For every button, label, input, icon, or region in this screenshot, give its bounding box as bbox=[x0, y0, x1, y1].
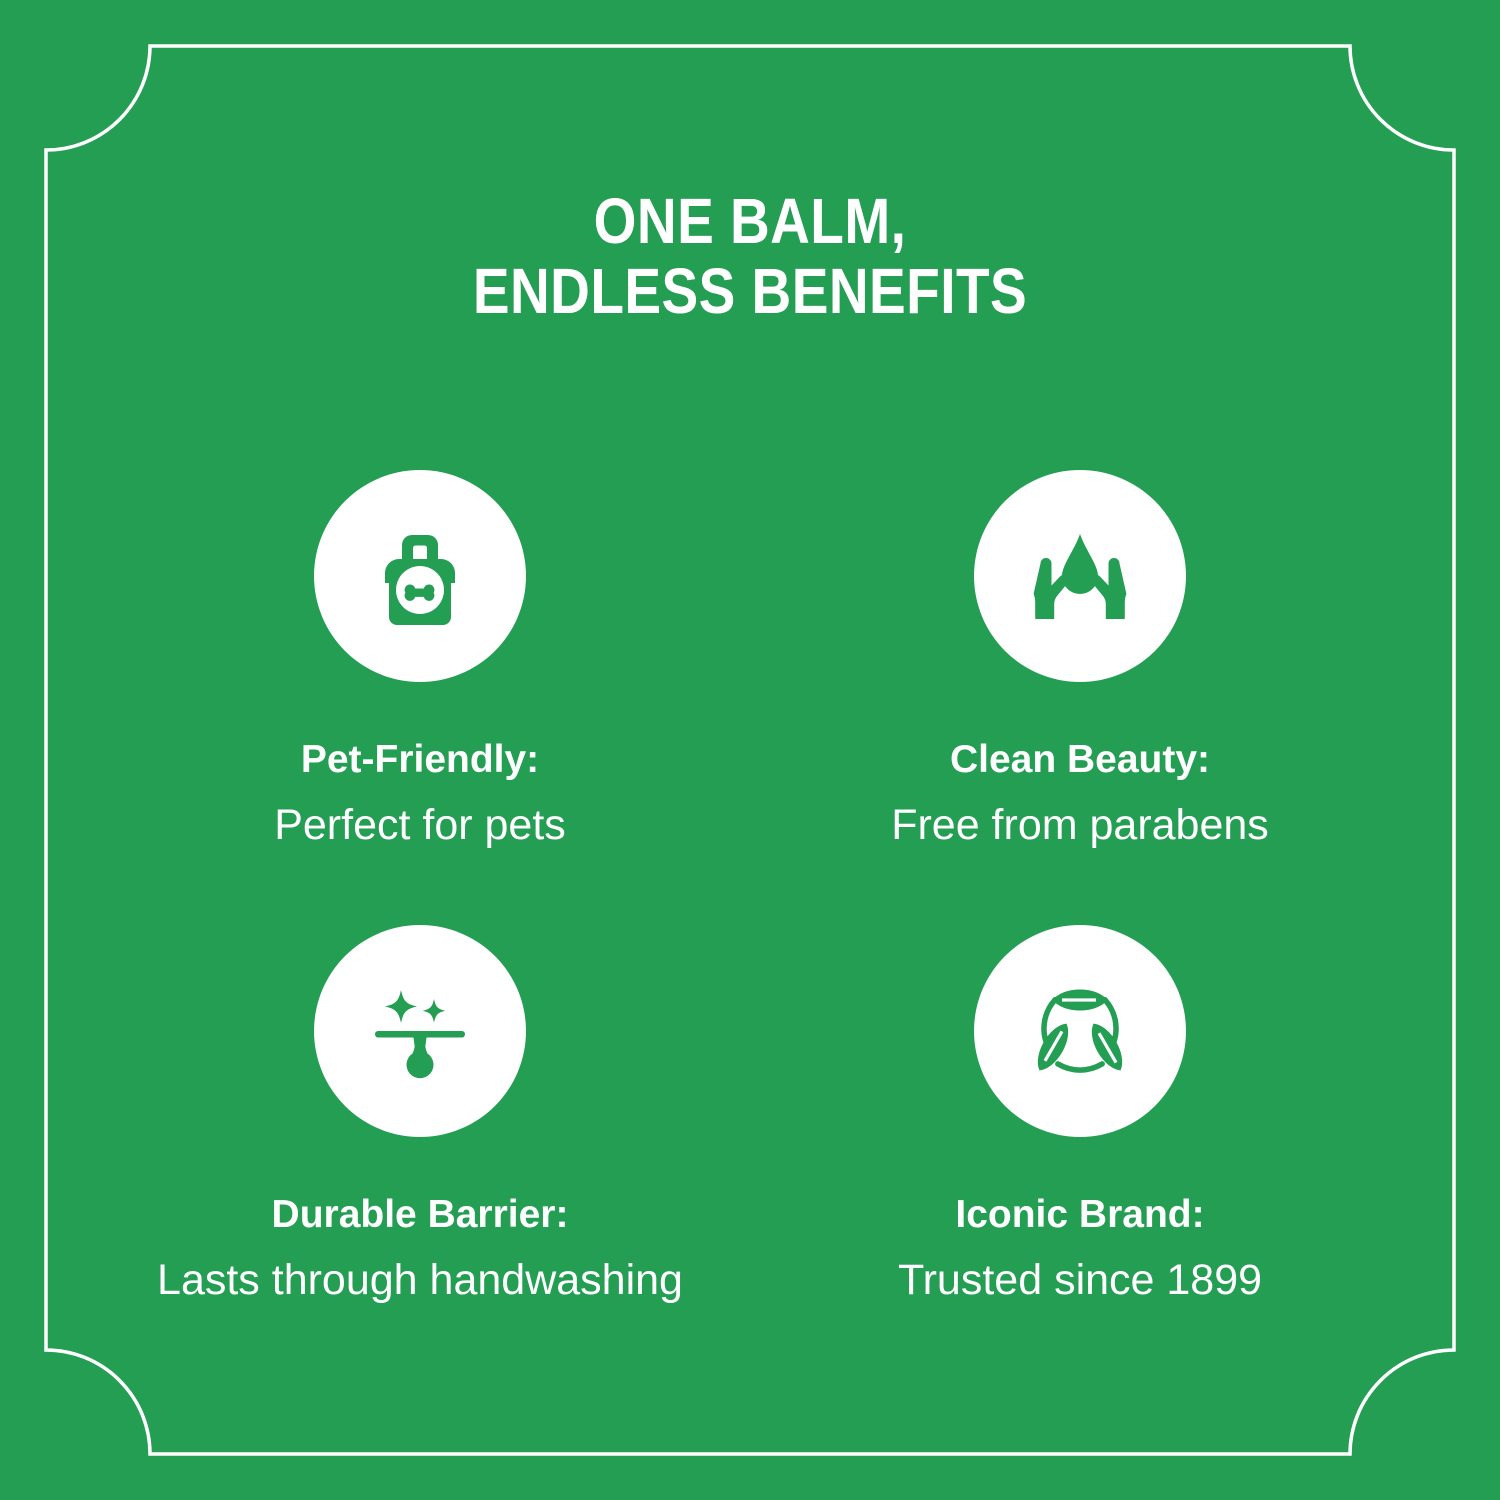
recycling-leaves-icon bbox=[1015, 966, 1145, 1096]
hands-holding-droplet-icon bbox=[1015, 511, 1145, 641]
benefit-item-durable-barrier: Durable Barrier: Lasts through handwashi… bbox=[90, 925, 750, 1380]
benefit-icon-badge bbox=[314, 470, 526, 682]
water-repellent-droplet-icon bbox=[355, 966, 485, 1096]
pet-first-aid-kit-icon bbox=[355, 511, 485, 641]
benefit-description: Perfect for pets bbox=[274, 804, 566, 847]
benefit-description: Free from parabens bbox=[891, 804, 1269, 847]
benefit-icon-badge bbox=[974, 470, 1186, 682]
benefit-description: Trusted since 1899 bbox=[898, 1259, 1262, 1302]
benefit-description: Lasts through handwashing bbox=[157, 1259, 683, 1302]
benefit-icon-badge bbox=[314, 925, 526, 1137]
benefit-item-clean-beauty: Clean Beauty: Free from parabens bbox=[750, 470, 1410, 925]
page-title-line-2: Endless Benefits bbox=[105, 256, 1395, 326]
benefit-title: Durable Barrier: bbox=[272, 1195, 569, 1234]
benefit-title: Clean Beauty: bbox=[950, 740, 1210, 779]
benefit-title: Iconic Brand: bbox=[955, 1195, 1204, 1234]
benefit-icon-badge bbox=[974, 925, 1186, 1137]
benefits-grid: Pet-Friendly: Perfect for pets Clean Bea… bbox=[90, 470, 1410, 1380]
benefit-item-pet-friendly: Pet-Friendly: Perfect for pets bbox=[90, 470, 750, 925]
benefit-item-iconic-brand: Iconic Brand: Trusted since 1899 bbox=[750, 925, 1410, 1380]
page-title: One Balm, Endless Benefits bbox=[105, 186, 1395, 327]
benefit-title: Pet-Friendly: bbox=[301, 740, 539, 779]
page-title-line-1: One Balm, bbox=[105, 186, 1395, 256]
